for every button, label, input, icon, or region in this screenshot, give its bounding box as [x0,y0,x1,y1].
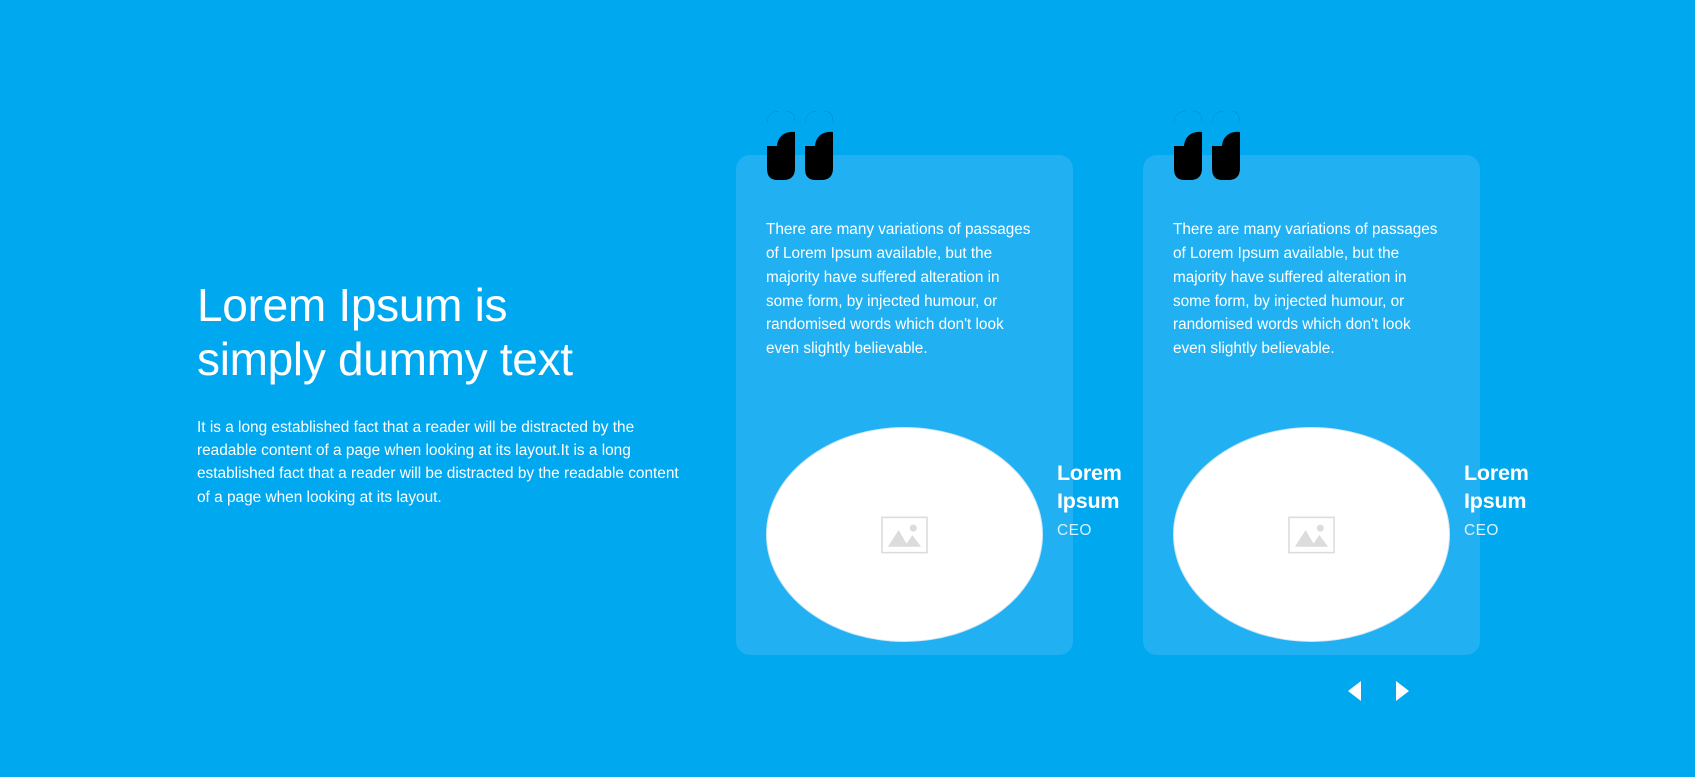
testimonial-author: Lorem Ipsum CEO [1173,427,1593,642]
image-placeholder-icon [1288,516,1335,554]
testimonial-card[interactable]: There are many variations of passages of… [1143,155,1480,655]
testimonial-quote: There are many variations of passages of… [1173,218,1443,361]
avatar [766,427,1043,642]
chevron-left-icon [1347,680,1362,702]
hero-paragraph: It is a long established fact that a rea… [197,416,684,510]
chevron-right-icon [1395,680,1410,702]
slider-prev-button[interactable] [1341,676,1367,706]
slider-navigation [1341,676,1431,710]
avatar [1173,427,1450,642]
page-title: Lorem Ipsum is simply dummy text [197,278,697,387]
hero-text-column: Lorem Ipsum is simply dummy text It is a… [197,278,697,509]
author-name: Lorem Ipsum [1464,460,1584,515]
slider-next-button[interactable] [1389,676,1415,706]
testimonial-quote: There are many variations of passages of… [766,218,1036,361]
author-meta: Lorem Ipsum CEO [1464,460,1584,540]
testimonial-section: Lorem Ipsum is simply dummy text It is a… [0,0,1695,777]
author-role: CEO [1464,522,1584,540]
image-placeholder-icon [881,516,928,554]
quote-mark-icon [765,110,837,182]
testimonial-card[interactable]: There are many variations of passages of… [736,155,1073,655]
quote-mark-icon [1172,110,1244,182]
testimonial-author: Lorem Ipsum CEO [766,427,1186,642]
testimonial-slider: There are many variations of passages of… [736,155,1695,675]
